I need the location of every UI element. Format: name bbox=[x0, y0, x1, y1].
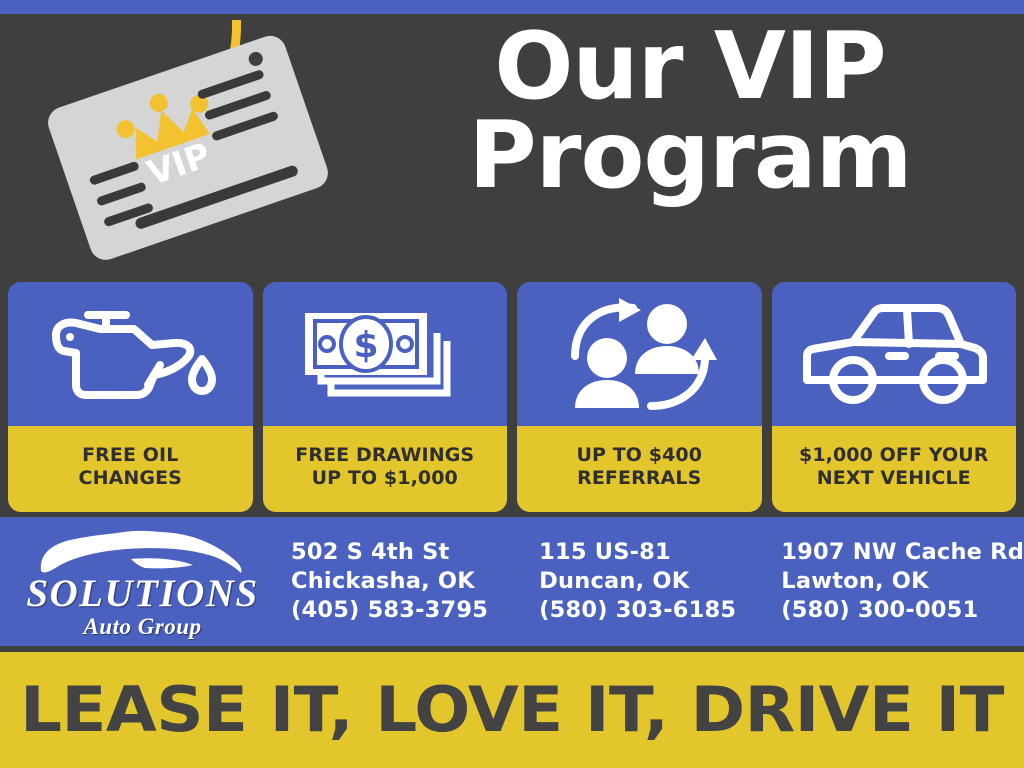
benefit-card-free-drawings[interactable]: $ FREE DRAWINGS UP TO $1,000 bbox=[263, 282, 508, 512]
car-icon bbox=[772, 282, 1017, 426]
brand-tagline: Auto Group bbox=[83, 615, 201, 638]
benefit-label-line-1: UP TO $400 bbox=[576, 444, 702, 467]
vip-program-poster: VIP bbox=[0, 0, 1024, 768]
location-city: Lawton, OK bbox=[781, 567, 1024, 596]
car-silhouette-logo-icon bbox=[35, 525, 250, 577]
location-street: 1907 NW Cache Rd bbox=[781, 538, 1024, 567]
location-city: Duncan, OK bbox=[539, 567, 769, 596]
contact-band: SOLUTIONS Auto Group 502 S 4th St Chicka… bbox=[0, 517, 1024, 646]
benefit-label-line-1: FREE DRAWINGS bbox=[295, 444, 474, 467]
slogan-banner: LEASE IT, LOVE IT, DRIVE IT bbox=[0, 652, 1024, 768]
hero-section: VIP bbox=[0, 14, 1024, 276]
benefit-label-line-2: NEXT VEHICLE bbox=[817, 467, 971, 490]
slogan-text: LEASE IT, LOVE IT, DRIVE IT bbox=[20, 679, 1004, 741]
cash-stack-icon: $ bbox=[263, 282, 508, 426]
benefit-label-line-1: FREE OIL bbox=[82, 444, 178, 467]
hero-title-line-2: Program bbox=[370, 111, 1010, 200]
location-city: Chickasha, OK bbox=[291, 567, 521, 596]
page-title: Our VIP Program bbox=[370, 22, 1010, 201]
location-street: 115 US-81 bbox=[539, 538, 769, 567]
benefit-card-label: UP TO $400 REFERRALS bbox=[517, 426, 762, 512]
location-item[interactable]: 115 US-81 Duncan, OK (580) 303-6185 bbox=[521, 538, 769, 624]
benefit-label-line-2: CHANGES bbox=[79, 467, 182, 490]
location-street: 502 S 4th St bbox=[291, 538, 521, 567]
benefit-card-referrals[interactable]: UP TO $400 REFERRALS bbox=[517, 282, 762, 512]
benefit-card-list: FREE OIL CHANGES $ bbox=[0, 282, 1024, 512]
vip-membership-card-icon: VIP bbox=[22, 20, 352, 270]
oil-can-icon bbox=[8, 282, 253, 426]
benefit-label-line-2: UP TO $1,000 bbox=[312, 467, 458, 490]
brand-name: SOLUTIONS bbox=[26, 575, 258, 613]
location-phone[interactable]: (580) 300-0051 bbox=[781, 596, 1024, 625]
brand-logo[interactable]: SOLUTIONS Auto Group bbox=[0, 525, 275, 637]
benefit-card-label: FREE DRAWINGS UP TO $1,000 bbox=[263, 426, 508, 512]
hero-title-line-1: Our VIP bbox=[370, 22, 1010, 111]
benefit-label-line-1: $1,000 OFF YOUR bbox=[799, 444, 988, 467]
benefit-label-line-2: REFERRALS bbox=[577, 467, 701, 490]
location-phone[interactable]: (405) 583-3795 bbox=[291, 596, 521, 625]
location-item[interactable]: 1907 NW Cache Rd Lawton, OK (580) 300-00… bbox=[769, 538, 1024, 624]
svg-text:$: $ bbox=[353, 325, 378, 366]
benefit-card-free-oil-changes[interactable]: FREE OIL CHANGES bbox=[8, 282, 253, 512]
location-item[interactable]: 502 S 4th St Chickasha, OK (405) 583-379… bbox=[275, 538, 521, 624]
referral-people-icon bbox=[517, 282, 762, 426]
benefit-card-vehicle-discount[interactable]: $1,000 OFF YOUR NEXT VEHICLE bbox=[772, 282, 1017, 512]
benefit-card-label: $1,000 OFF YOUR NEXT VEHICLE bbox=[772, 426, 1017, 512]
location-list: 502 S 4th St Chickasha, OK (405) 583-379… bbox=[275, 538, 1024, 624]
benefit-card-label: FREE OIL CHANGES bbox=[8, 426, 253, 512]
location-phone[interactable]: (580) 303-6185 bbox=[539, 596, 769, 625]
